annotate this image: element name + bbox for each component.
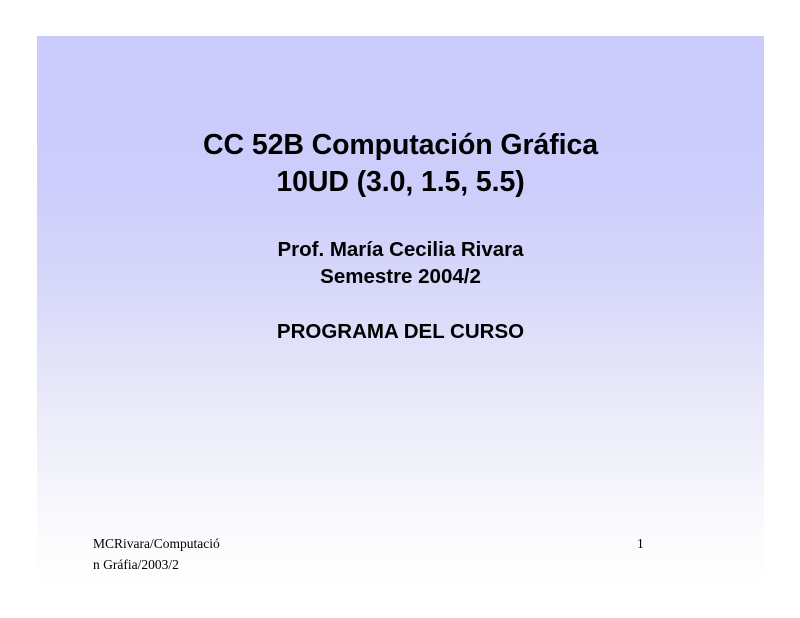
slide-subtitle: Prof. María Cecilia Rivara Semestre 2004… <box>37 236 764 290</box>
section-heading-text: PROGRAMA DEL CURSO <box>37 318 764 345</box>
footer-attribution: MCRivara/Computació n Gráfia/2003/2 <box>93 533 253 575</box>
subtitle-line-1-instructor: Prof. María Cecilia Rivara <box>37 236 764 263</box>
slide-section-heading: PROGRAMA DEL CURSO <box>37 318 764 345</box>
slide-footer: MCRivara/Computació n Gráfia/2003/2 1 <box>37 533 764 588</box>
title-line-2: 10UD (3.0, 1.5, 5.5) <box>37 164 764 201</box>
subtitle-line-2-semester: Semestre 2004/2 <box>37 263 764 290</box>
footer-line-1: MCRivara/Computació <box>93 533 253 554</box>
title-line-1: CC 52B Computación Gráfica <box>37 127 764 164</box>
page-number: 1 <box>637 533 737 554</box>
footer-line-2: n Gráfia/2003/2 <box>93 554 253 575</box>
presentation-slide: CC 52B Computación Gráfica 10UD (3.0, 1.… <box>37 36 764 588</box>
slide-title: CC 52B Computación Gráfica 10UD (3.0, 1.… <box>37 127 764 201</box>
